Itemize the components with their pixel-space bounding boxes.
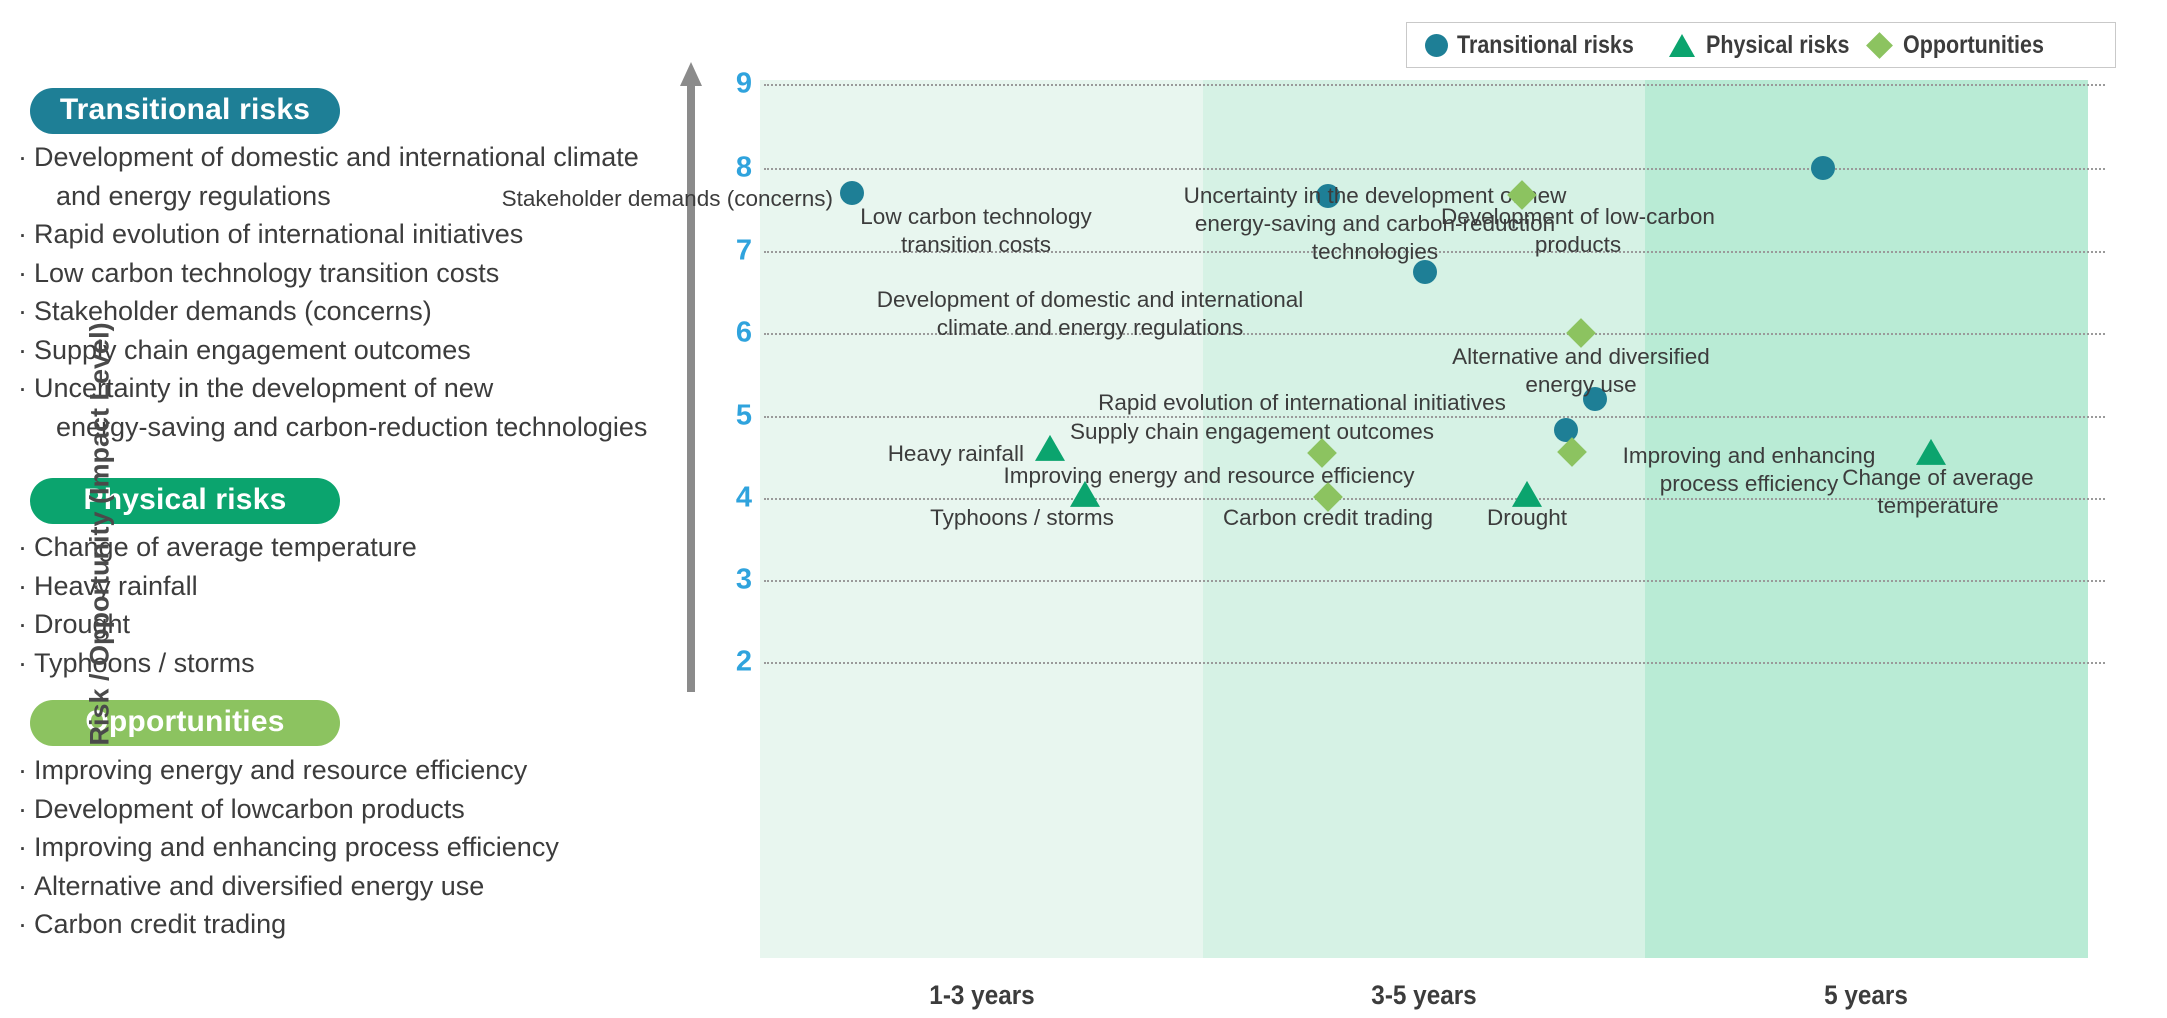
data-point-label: Rapid evolution of international initiat… [1098,389,1506,417]
data-point-label: Development of domestic and internationa… [877,286,1304,342]
y-axis-title: Risk / Opportunity (Impact Level) [85,326,116,746]
circle-marker-icon[interactable] [1811,156,1835,180]
circle-marker-icon[interactable] [1554,418,1578,442]
circle-marker-icon[interactable] [840,181,864,205]
triangle-marker-icon[interactable] [1035,435,1065,461]
data-point-label: Improving energy and resource efficiency [1003,462,1414,490]
gridline [764,84,2105,86]
data-point-label: Supply chain engagement outcomes [1070,418,1434,446]
data-point-label: Drought [1487,504,1567,532]
data-point-label: Alternative and diversified energy use [1452,343,1710,399]
data-point-label: Stakeholder demands (concerns) [502,185,833,213]
y-axis-tick-label: 6 [706,317,752,350]
triangle-marker-icon[interactable] [1916,439,1946,465]
data-point-label: Development of low-carbon products [1441,203,1715,259]
y-axis-tick-label: 5 [706,400,752,433]
data-point-label: Carbon credit trading [1223,504,1433,532]
y-axis-arrow-icon [680,62,702,692]
y-axis-tick-label: 3 [706,564,752,597]
y-axis-tick-label: 9 [706,68,752,101]
risk-opportunity-matrix-chart: Risk / Opportunity (Impact Level) 987654… [0,0,2167,1018]
gridline [764,580,2105,582]
x-axis-label: 3-5 years [1371,980,1476,1011]
x-axis-label: 1-3 years [929,980,1034,1011]
y-axis-tick-label: 7 [706,235,752,268]
data-point-label: Improving and enhancing process efficien… [1623,442,1876,498]
y-axis-tick-label: 2 [706,646,752,679]
x-axis-label: 5 years [1824,980,1908,1011]
y-axis-tick-label: 8 [706,152,752,185]
triangle-marker-icon[interactable] [1512,481,1542,507]
data-point-label: Low carbon technology transition costs [860,203,1091,259]
gridline [764,662,2105,664]
y-axis-tick-label: 4 [706,482,752,515]
data-point-label: Typhoons / storms [930,504,1114,532]
gridline [764,168,2105,170]
